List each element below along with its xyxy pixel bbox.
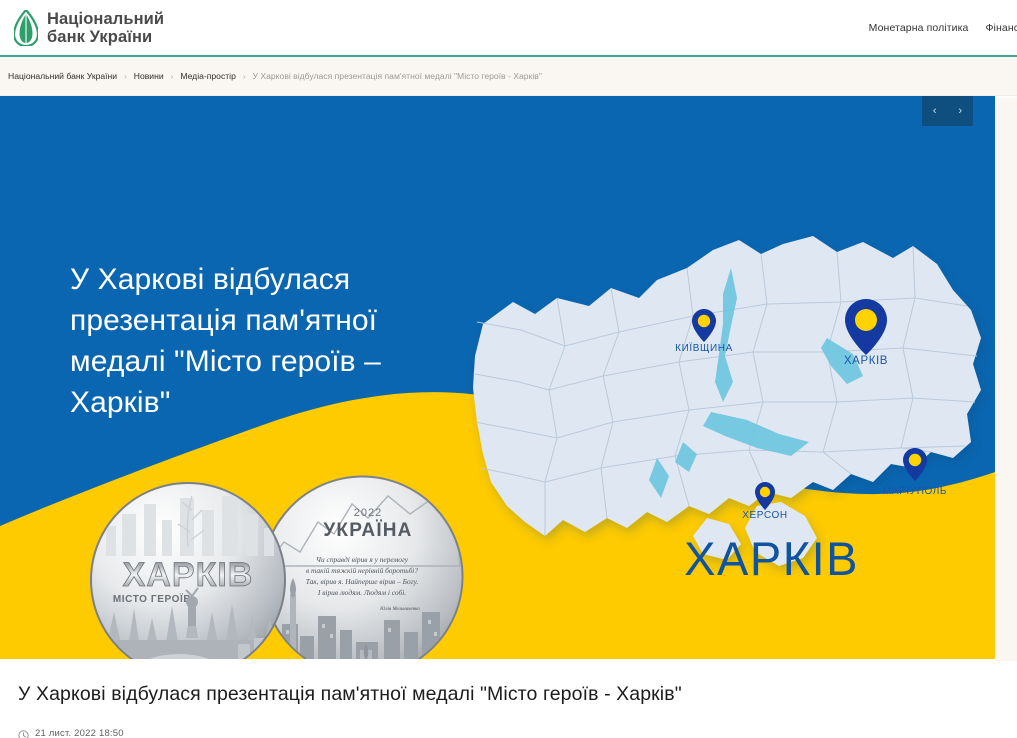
breadcrumb-item-media[interactable]: Медіа-простір <box>180 71 236 81</box>
logo-text: Національний банк України <box>47 10 164 46</box>
breadcrumb-separator-icon: › <box>243 72 246 81</box>
carousel-next-icon[interactable]: › <box>958 106 962 117</box>
ukraine-map <box>461 206 995 656</box>
svg-text:І вірив людям. Людям і собі.: І вірив людям. Людям і собі. <box>317 588 406 597</box>
svg-text:УКРАЇНА: УКРАЇНА <box>323 520 412 541</box>
hero-title: У Харкові відбулася презентація пам'ятно… <box>70 259 470 423</box>
breadcrumb: Національний банк України › Новини › Мед… <box>8 71 542 81</box>
svg-text:Так, вірив я. Найперше вірив –: Так, вірив я. Найперше вірив – Богу. <box>306 577 419 586</box>
map-pin-kherson[interactable]: ХЕРСОН <box>755 482 775 510</box>
article-meta: 21 лист. 2022 18:50 <box>18 728 999 738</box>
site-header: Національний банк України Монетарна полі… <box>0 0 1017 57</box>
svg-text:2022: 2022 <box>354 507 382 519</box>
svg-text:ХАРКІВ: ХАРКІВ <box>123 556 254 594</box>
carousel-controls: ‹ › <box>922 96 973 126</box>
map-pin-label-mariupol: МАРІУПОЛЬ <box>883 486 947 497</box>
breadcrumb-item-home[interactable]: Національний банк України <box>8 71 117 81</box>
logo-link[interactable]: Національний банк України <box>0 10 164 46</box>
svg-text:МІСТО ГЕРОЇВ: МІСТО ГЕРОЇВ <box>113 592 191 605</box>
commemorative-medal-image: 2022 УКРАЇНА Чи справді вірив я у перемо… <box>88 474 488 659</box>
hero-banner: КИЇВЩИНА ХАРКІВ ХЕРСОН МАРІУПОЛЬ У Харко… <box>0 96 995 659</box>
carousel-prev-icon[interactable]: ‹ <box>933 106 937 117</box>
nbu-leaf-logo-icon <box>14 10 38 46</box>
map-pin-label-kharkiv: ХАРКІВ <box>844 355 888 367</box>
medal-obverse: ХАРКІВ МІСТО ГЕРОЇВ <box>88 480 288 659</box>
breadcrumb-separator-icon: › <box>171 72 174 81</box>
article-header: У Харкові відбулася презентація пам'ятно… <box>0 659 1017 738</box>
main-nav: Монетарна політика Фінансова с <box>869 22 1017 34</box>
clock-icon <box>18 728 29 738</box>
breadcrumb-separator-icon: › <box>124 72 127 81</box>
breadcrumb-bar: Національний банк України › Новини › Мед… <box>0 57 1017 96</box>
page-title: У Харкові відбулася презентація пам'ятно… <box>18 681 999 707</box>
medal-reverse: 2022 УКРАЇНА Чи справді вірив я у перемо… <box>260 474 465 659</box>
map-pin-label-kyiv: КИЇВЩИНА <box>675 343 733 354</box>
breadcrumb-item-current: У Харкові відбулася презентація пам'ятно… <box>253 71 542 81</box>
svg-text:Юлія Мельниченко: Юлія Мельниченко <box>379 607 420 612</box>
svg-text:Чи справді вірив я у перемогу: Чи справді вірив я у перемогу <box>316 555 409 564</box>
svg-text:в такій тяжкій нерівній бороть: в такій тяжкій нерівній боротьбі? <box>306 566 418 575</box>
map-pin-mariupol[interactable]: МАРІУПОЛЬ <box>903 448 927 481</box>
nav-item-monetary-policy[interactable]: Монетарна політика <box>869 22 969 34</box>
page-root: Національний банк України Монетарна полі… <box>0 0 1017 738</box>
nav-item-financial-stability[interactable]: Фінансова с <box>985 22 1017 34</box>
page-right-gutter <box>995 98 1017 661</box>
hero-city-word: ХАРКІВ <box>684 535 859 582</box>
breadcrumb-item-news[interactable]: Новини <box>134 71 164 81</box>
map-pin-kyiv[interactable]: КИЇВЩИНА <box>692 309 716 342</box>
publish-date: 21 лист. 2022 18:50 <box>35 728 124 738</box>
map-pin-kharkiv[interactable]: ХАРКІВ <box>845 299 887 355</box>
map-pin-label-kherson: ХЕРСОН <box>742 510 788 521</box>
